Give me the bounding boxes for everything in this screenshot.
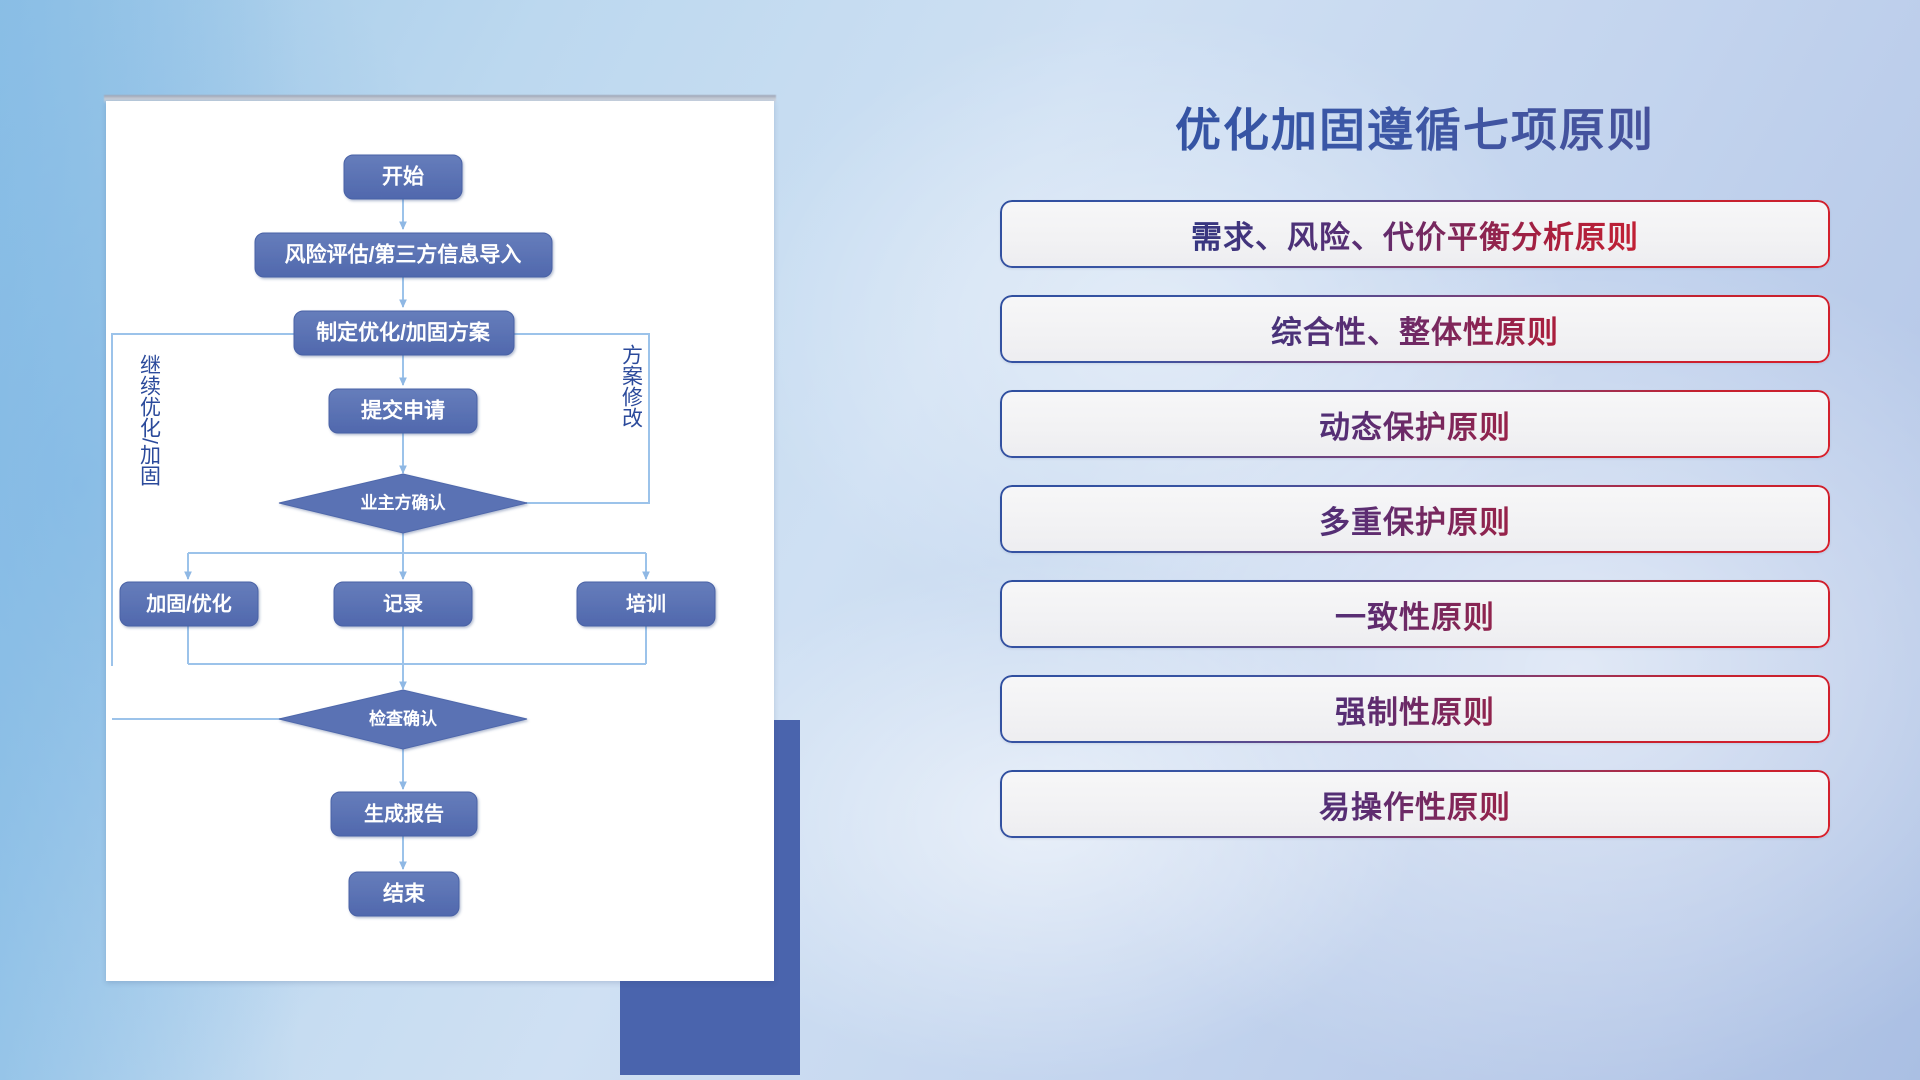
principles-panel: 优化加固遵循七项原则 需求、风险、代价平衡分析原则 综合性、整体性原则 动态保护… [1000,80,1830,1010]
flow-node-start-label: 开始 [382,165,424,189]
flow-node-training-label: 培训 [626,591,666,615]
principle-item-label: 易操作性原则 [1000,770,1830,838]
principle-item-label: 一致性原则 [1000,580,1830,648]
principle-item-6[interactable]: 强制性原则 [1000,675,1830,743]
principle-item-label: 强制性原则 [1000,675,1830,743]
principle-item-label: 多重保护原则 [1000,485,1830,553]
principle-item-4[interactable]: 多重保护原则 [1000,485,1830,553]
principle-item-5[interactable]: 一致性原则 [1000,580,1830,648]
principle-item-3[interactable]: 动态保护原则 [1000,390,1830,458]
principle-item-7[interactable]: 易操作性原则 [1000,770,1830,838]
principle-item-label: 综合性、整体性原则 [1000,295,1830,363]
flow-connectors [112,198,649,869]
flow-node-end-label: 结束 [383,882,426,906]
principle-item-label: 动态保护原则 [1000,390,1830,458]
principle-item-2[interactable]: 综合性、整体性原则 [1000,295,1830,363]
flow-node-owner-confirm-label: 业主方确认 [361,492,447,512]
flow-node-record-label: 记录 [383,592,423,615]
flowchart-panel: 开始 风险评估/第三方信息导入 制定优化/加固方案 提交申请 业主方确认 加固/… [104,95,804,975]
principles-title: 优化加固遵循七项原则 [1000,80,1830,160]
flow-node-check-label: 检查确认 [369,708,438,728]
flow-node-plan-label: 制定优化/加固方案 [316,321,491,345]
flow-node-reinforce-label: 加固/优化 [145,591,232,615]
side-label-right: 方案修改 [620,344,644,428]
principle-item-label: 需求、风险、代价平衡分析原则 [1000,200,1830,268]
side-label-left: 继续优化/加固 [138,354,162,486]
principle-item-1[interactable]: 需求、风险、代价平衡分析原则 [1000,200,1830,268]
flow-node-report-label: 生成报告 [364,801,444,825]
flow-node-risk-label: 风险评估/第三方信息导入 [285,243,522,267]
principles-list: 需求、风险、代价平衡分析原则 综合性、整体性原则 动态保护原则 多重保护原则 一… [1000,200,1830,838]
flowchart-svg: 开始 风险评估/第三方信息导入 制定优化/加固方案 提交申请 业主方确认 加固/… [106,101,774,981]
flow-node-submit-label: 提交申请 [361,399,445,423]
